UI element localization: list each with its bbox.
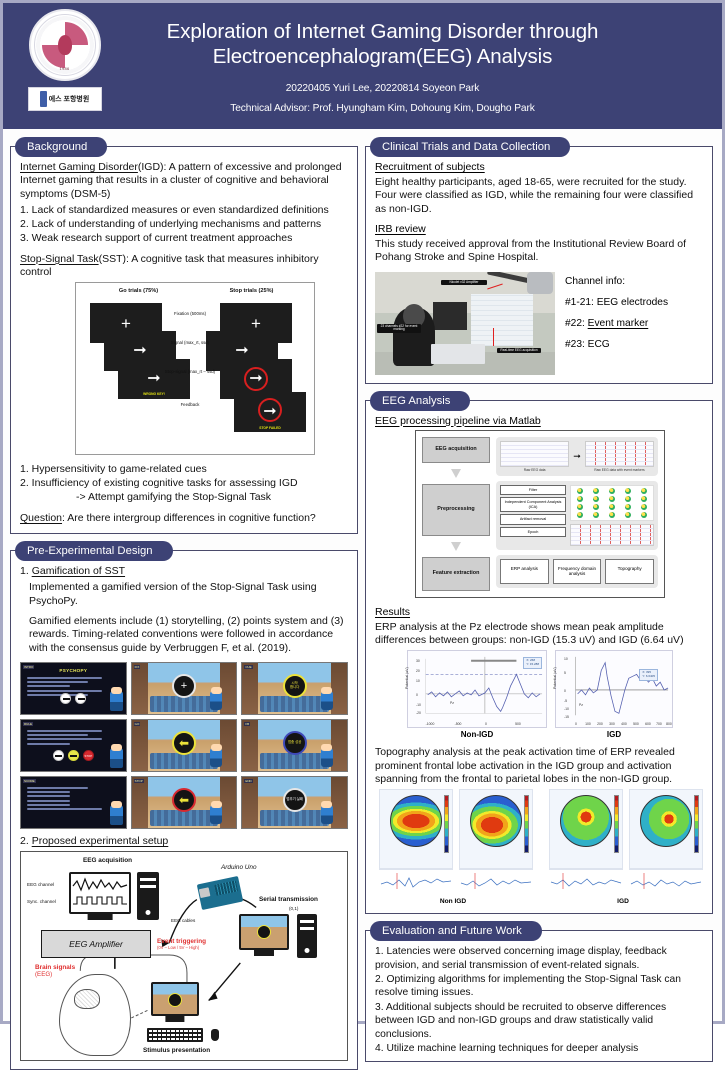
item1-title: Gamification of SST [32, 565, 125, 577]
shot-tag: STOP [134, 779, 144, 783]
pipeline-stage: EEG acquisition [422, 437, 490, 463]
feature-box: Topography [605, 559, 654, 584]
pipeline-stage: Preprocessing [422, 484, 490, 536]
issue-item: 2. Lack of understanding of underlying m… [20, 218, 348, 232]
erp-ytick: 0 [416, 693, 418, 697]
sst-screen-go-feedback: ➞ WRONG KEY! [118, 359, 190, 399]
evaluation-list: 1. Latencies were observed concerning im… [375, 945, 703, 1055]
authors: 20220405 Yuri Lee, 20220814 Soyeon Park [103, 83, 663, 94]
mouse-icon [211, 1029, 219, 1041]
erp-xtick: 0 [575, 722, 577, 726]
erp-legend-igd: X: 395 Y: 6.6405 [639, 669, 658, 681]
topography-maps [379, 789, 703, 891]
feature-box: ERP analysis [500, 559, 549, 584]
topo-item [629, 789, 703, 891]
university-seal-icon: 1986 [29, 9, 101, 81]
hospital-logo-label: 에스 포항병원 [49, 96, 90, 103]
label-stimulus-presentation: Stimulus presentation [143, 1047, 210, 1054]
erp-ytick: 10 [564, 657, 568, 661]
features-panel: ERP analysis Frequency domain analysis T… [496, 555, 658, 588]
logo-group: 1986 에스 포항병원 [17, 9, 112, 111]
hospital-logo-icon: 에스 포항병원 [28, 87, 102, 111]
topo-caption-non-igd: Non IGD [375, 898, 531, 905]
topo-head-icon [390, 795, 442, 847]
label-event-triggering: Event triggering (0V – Low / 5V – High) [157, 938, 206, 950]
label-brain-signals: Brain signals (EEG) [35, 964, 75, 978]
photo-tag-channels: 23 channels #22 for event marking [377, 324, 421, 334]
pipeline-title: EEG processing pipeline via Matlab [375, 415, 703, 427]
erp-chart-non-igd: Potential (uV) 30 [407, 650, 547, 739]
shot-tag: FB [244, 722, 250, 726]
preproc-step: Artifact removal [500, 514, 566, 525]
erp-xtick: 0 [485, 722, 487, 726]
pipeline-arrow-icon [451, 542, 461, 551]
shot-tag: CUE [244, 665, 252, 669]
event-triggering-text: Event triggering [157, 938, 206, 945]
igd-definition: Internet Gaming Disorder(IGD): A pattern… [20, 161, 348, 201]
erp-line-igd [556, 651, 672, 727]
brain-signals-text: Brain signals [35, 964, 75, 971]
erp-ytick: 30 [416, 659, 420, 663]
game-screenshot: FB 멈춤 성공 [241, 719, 348, 772]
gamification-heading: 1. Gamification of SST [20, 565, 348, 578]
eeg-waveform-icon [71, 874, 129, 912]
erp-ytick: 5 [564, 671, 566, 675]
channel-item-1: #1-21: EEG electrodes [565, 297, 668, 308]
sst-grid: + ➞ ➞ WRONG KEY! + ➞ ➞ [82, 297, 308, 447]
topo-head-icon [560, 795, 612, 847]
photo-tag-realtime: Real-time EEG acquisition [497, 348, 541, 354]
event-voltages-text: (0V – Low / 5V – High) [157, 945, 206, 950]
erp-xtick: 300 [609, 722, 615, 726]
raw-data-panel: Raw EEG data ➞ Raw EEG data with event m… [496, 437, 658, 476]
irb-subheading: IRB review [375, 223, 703, 235]
brain-icon [74, 989, 100, 1009]
section-header-evaluation: Evaluation and Future Work [370, 921, 542, 941]
topo-caption-igd: IGD [545, 898, 701, 905]
point-item: 2. Insufficiency of existing cognitive t… [20, 477, 348, 491]
game-screenshot-grid: INTRO PSYCHOPY FIX + [20, 662, 348, 829]
shot-tag: SCORE [23, 779, 36, 783]
question-text: : Are there intergroup differences in co… [62, 512, 316, 524]
topo-group-non-igd [379, 789, 533, 891]
background-issues: 1. Lack of standardized measures or even… [20, 204, 348, 246]
erp-ytick: -15 [564, 715, 569, 719]
game-screenshot: SCORE [20, 776, 127, 829]
erp-xtick: -1000 [426, 722, 435, 726]
label-eeg-acquisition: EEG acquisition [83, 857, 132, 864]
research-question: Question: Are there intergroup differenc… [20, 512, 348, 525]
experimenter-pc-tower [297, 914, 317, 958]
section-pre-experimental-design: Pre-Experimental Design 1. Gamification … [10, 541, 358, 1070]
erp-chart-igd: Potential (uV) 10 5 0 -5 -10 [555, 650, 673, 739]
results-title: Results [375, 606, 703, 618]
pipeline-details: Raw EEG data ➞ Raw EEG data with event m… [496, 437, 658, 591]
label-serial-transmission: Serial transmission [259, 896, 318, 903]
recruitment-subheading: Recruitment of subjects [375, 161, 703, 173]
erp-ytick: -20 [416, 711, 421, 715]
section-eeg-analysis: EEG Analysis EEG processing pipeline via… [365, 391, 713, 915]
erp-ytick: 0 [564, 689, 566, 693]
erp-ytick: -10 [564, 707, 569, 711]
section-header-pre-experimental: Pre-Experimental Design [15, 541, 173, 561]
igd-term: Internet Gaming Disorder [20, 161, 138, 173]
poster-title-line1: Exploration of Internet Gaming Disorder … [103, 19, 663, 44]
preprocessing-panel: Filter Independent Component Analysis (I… [496, 481, 658, 550]
sst-wrong-key-label: WRONG KEY! [118, 392, 190, 396]
shot-tag: GO [134, 722, 141, 726]
shot-tag: END [244, 779, 252, 783]
erp-xtick: 100 [585, 722, 591, 726]
section-header-clinical: Clinical Trials and Data Collection [370, 137, 570, 157]
label-arduino: Arduino Uno [221, 864, 257, 871]
section-header-background: Background [15, 137, 107, 157]
feature-box: Frequency domain analysis [553, 559, 602, 584]
label-eeg-cables: EEG cables [171, 918, 195, 923]
erp-ytick: 10 [416, 679, 420, 683]
topo-item [549, 789, 623, 891]
arduino-uno-icon [197, 876, 243, 910]
erp-xtick: 600 [645, 722, 651, 726]
game-screenshot: RULE [20, 719, 127, 772]
evaluation-item: 3. Additional subjects should be recruit… [375, 1001, 703, 1041]
sst-definition: Stop-Signal Task(SST): A cognitive task … [20, 253, 348, 280]
sst-col-stop: Stop trials (25%) [195, 288, 308, 294]
experimental-setup-diagram: EEG acquisition EEG channel Sync. channe… [20, 851, 348, 1061]
erp-xtick: 700 [656, 722, 662, 726]
right-column: Clinical Trials and Data Collection Recr… [365, 137, 713, 1070]
topo-waveform [549, 869, 623, 891]
poster-root: 1986 에스 포항병원 Exploration of Internet Gam… [0, 0, 725, 1024]
channel-2-term: Event marker [588, 318, 649, 329]
legend-y: Y: 15.288 [526, 662, 539, 666]
channel-item-2: #22: Event marker [565, 318, 668, 329]
background-points: 1. Hypersensitivity to game-related cues… [20, 463, 348, 505]
brain-signals-sub: (EEG) [35, 971, 75, 978]
legend-y: Y: 6.6405 [642, 674, 655, 678]
topo-item [459, 789, 533, 891]
gamification-p1: Implemented a gamified version of the St… [20, 581, 348, 608]
photo-tag-amplifier: Nicolet v32 Amplifier [441, 280, 487, 286]
pipeline-stage: Feature extraction [422, 557, 490, 591]
erp-xtick: 500 [633, 722, 639, 726]
erp-caption-non-igd: Non-IGD [407, 730, 547, 739]
left-column: Background Internet Gaming Disorder(IGD)… [10, 137, 358, 1070]
sst-term: Stop-Signal Task [20, 253, 99, 265]
erp-caption-igd: IGD [555, 730, 673, 739]
game-screenshot: FIX + [131, 662, 238, 715]
evaluation-item: 2. Optimizing algorithms for implementin… [375, 973, 703, 1000]
shot-tag: FIX [134, 665, 141, 669]
erp-ytick: 20 [416, 669, 420, 673]
topo-waveform [459, 869, 533, 891]
advisor: Technical Advisor: Prof. Hyungham Kim, D… [103, 103, 663, 114]
topography-text: Topography analysis at the peak activati… [375, 746, 703, 786]
title-block: Exploration of Internet Gaming Disorder … [103, 19, 663, 114]
section-background: Background Internet Gaming Disorder(IGD)… [10, 137, 358, 534]
eeg-pc-tower [137, 872, 159, 920]
irb-text: This study received approval from the In… [375, 238, 703, 265]
setup-heading: 2. Proposed experimental setup [20, 835, 348, 848]
lab-setup-photo: Nicolet v32 Amplifier 23 channels #22 fo… [375, 272, 555, 375]
sst-screen-stop-feedback: ➞ STOP FAILED [234, 392, 306, 432]
erp-ytick: -5 [564, 699, 567, 703]
erp-xtick: 800 [666, 722, 672, 726]
game-screenshot: END 멈추기 실패 [241, 776, 348, 829]
gamification-p2: Gamified elements include (1) storytelli… [20, 615, 348, 655]
shot-title: PSYCHOPY [21, 668, 126, 673]
label-eeg-channel: EEG channel [27, 882, 54, 887]
sst-stop-failed-label: STOP FAILED [234, 426, 306, 430]
poster-columns: Background Internet Gaming Disorder(IGD)… [3, 129, 722, 1077]
topo-item [379, 789, 453, 891]
topo-waveform [379, 869, 453, 891]
section-evaluation: Evaluation and Future Work 1. Latencies … [365, 921, 713, 1062]
participant-head-icon [59, 974, 131, 1056]
sst-stage-label: Signal (max_rt, ssd) [160, 340, 220, 345]
label-serial-values: (0,1) [289, 906, 298, 911]
topo-head-icon [640, 795, 692, 847]
topo-head-icon [470, 795, 522, 847]
section-clinical-trials: Clinical Trials and Data Collection Recr… [365, 137, 713, 384]
erp-xtick: 200 [597, 722, 603, 726]
poster-header: 1986 에스 포항병원 Exploration of Internet Gam… [3, 3, 722, 129]
erp-ytick: -10 [416, 703, 421, 707]
game-screenshot: CUE 시작합니다 [241, 662, 348, 715]
erp-xtick: -500 [455, 722, 462, 726]
issue-item: 1. Lack of standardized measures or even… [20, 204, 348, 218]
question-term: Question [20, 512, 62, 524]
ica-components-icon [570, 485, 654, 521]
item1-number: 1. [20, 565, 32, 577]
erp-plot-non-igd: Potential (uV) 30 [407, 650, 547, 728]
preproc-step: Epoch [500, 527, 566, 538]
channel-item-3: #23: ECG [565, 339, 668, 350]
eeg-monitor [69, 872, 131, 914]
issue-item: 3. Weak research support of current trea… [20, 232, 348, 246]
erp-charts: Potential (uV) 30 [407, 650, 703, 739]
game-screenshot: INTRO PSYCHOPY [20, 662, 127, 715]
sst-col-go: Go trials (75%) [82, 288, 195, 294]
arrow-point: -> Attempt gamifying the Stop-Signal Tas… [20, 491, 348, 505]
channel-2-prefix: #22: [565, 318, 588, 329]
pipeline-stages: EEG acquisition Preprocessing Feature ex… [422, 437, 490, 591]
eeg-amplifier-box: EEG Amplifier [41, 930, 151, 958]
poster-title-line2: Electroencephalogram(EEG) Analysis [103, 44, 663, 69]
sst-stage-label: Fixation (500ms) [160, 311, 220, 316]
recruitment-text: Eight healthy participants, aged 18-65, … [375, 176, 703, 216]
erp-plot-igd: Potential (uV) 10 5 0 -5 -10 [555, 650, 673, 728]
sst-stage-label: Stop-signal (max_rt – ssd) [160, 369, 220, 374]
eeg-pipeline-diagram: EEG acquisition Preprocessing Feature ex… [415, 430, 665, 598]
keyboard-icon [147, 1028, 203, 1042]
sst-stage-label: Feedback [160, 402, 220, 407]
point-item: 1. Hypersensitivity to game-related cues [20, 463, 348, 477]
results-text: ERP analysis at the Pz electrode shows m… [375, 621, 703, 648]
erp-electrode-label: Pz [450, 701, 454, 705]
experimenter-monitor [239, 914, 289, 950]
evaluation-item: 4. Utilize machine learning techniques f… [375, 1042, 703, 1055]
label-sync-channel: Sync. channel [27, 899, 56, 904]
erp-legend-non-igd: X: 268 Y: 15.288 [523, 657, 542, 669]
sst-diagram: Go trials (75%) Stop trials (25%) + ➞ ➞ … [75, 282, 315, 455]
preproc-step: Independent Component Analysis (ICA) [500, 497, 566, 512]
pipeline-arrow-icon [451, 469, 461, 478]
section-header-eeg-analysis: EEG Analysis [370, 391, 470, 411]
item2-title: Proposed experimental setup [32, 835, 169, 847]
preproc-step: Filter [500, 485, 566, 496]
channel-info-title: Channel info: [565, 276, 668, 287]
game-screenshot: GO ⬅ [131, 719, 238, 772]
erp-electrode-label: Pz [579, 703, 583, 707]
raw-caption-left: Raw EEG data [500, 468, 569, 472]
erp-xtick: 500 [515, 722, 521, 726]
seal-year: 1986 [31, 66, 99, 71]
item2-number: 2. [20, 835, 32, 847]
erp-xtick: 400 [621, 722, 627, 726]
shot-tag: RULE [23, 722, 33, 726]
game-screenshot: STOP ⬅ [131, 776, 238, 829]
topo-group-igd [549, 789, 703, 891]
topo-waveform [629, 869, 703, 891]
evaluation-item: 1. Latencies were observed concerning im… [375, 945, 703, 972]
raw-caption-right: Raw EEG data with event markers [585, 468, 654, 472]
stimulus-monitor [151, 982, 199, 1016]
